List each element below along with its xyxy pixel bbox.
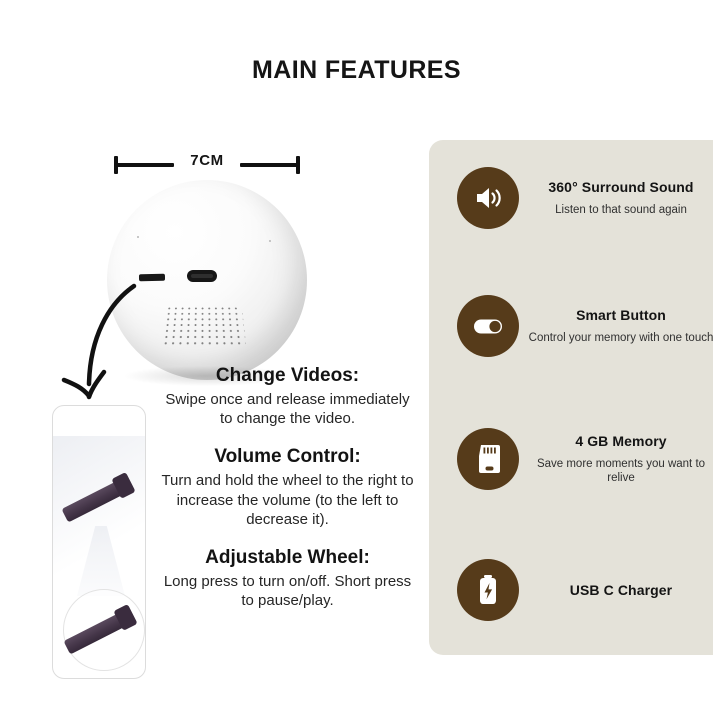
sphere-seam-dot-right	[269, 240, 271, 242]
speaker-grille-icon	[161, 306, 246, 349]
feature-subtitle: Control your memory with one touch	[527, 331, 713, 345]
dimension-indicator: 7CM	[112, 152, 302, 178]
feature-title: 360° Surround Sound	[527, 179, 713, 195]
instructions-list: Change Videos: Swipe once and release im…	[160, 365, 415, 610]
instruction-title: Change Videos:	[160, 365, 415, 387]
instruction-title: Adjustable Wheel:	[160, 547, 415, 569]
instruction-body: Swipe once and release immediately to ch…	[160, 390, 415, 428]
feature-item-usb-charger[interactable]: USB C Charger	[457, 554, 713, 626]
battery-bolt-icon	[457, 559, 519, 621]
instruction-change-videos: Change Videos: Swipe once and release im…	[160, 365, 415, 428]
curved-arrow-icon	[56, 280, 151, 405]
feature-text: USB C Charger	[519, 582, 713, 598]
feature-text: 360° Surround Sound Listen to that sound…	[519, 179, 713, 217]
product-column: 7CM	[0, 110, 425, 710]
feature-item-memory[interactable]: 4 GB Memory Save more moments you want t…	[457, 423, 713, 495]
feature-title: Smart Button	[527, 307, 713, 323]
feature-text: Smart Button Control your memory with on…	[519, 307, 713, 345]
feature-item-surround-sound[interactable]: 360° Surround Sound Listen to that sound…	[457, 162, 713, 234]
instruction-body: Turn and hold the wheel to the right to …	[160, 471, 415, 529]
toggle-switch-icon	[457, 295, 519, 357]
instruction-title: Volume Control:	[160, 446, 415, 468]
page-title: MAIN FEATURES	[0, 56, 713, 85]
sd-card-icon	[457, 428, 519, 490]
feature-title: USB C Charger	[527, 582, 713, 598]
feature-item-smart-button[interactable]: Smart Button Control your memory with on…	[457, 290, 713, 362]
feature-title: 4 GB Memory	[527, 433, 713, 449]
speaker-volume-icon	[457, 167, 519, 229]
wheel-detail-card	[52, 405, 146, 679]
instruction-adjustable-wheel: Adjustable Wheel: Long press to turn on/…	[160, 547, 415, 610]
instruction-volume-control: Volume Control: Turn and hold the wheel …	[160, 446, 415, 529]
features-panel: 360° Surround Sound Listen to that sound…	[429, 140, 713, 655]
dimension-cap-right	[296, 156, 300, 174]
sphere-seam-dot-left	[137, 236, 139, 238]
usb-c-port-icon	[187, 270, 217, 282]
feature-text: 4 GB Memory Save more moments you want t…	[519, 433, 713, 486]
feature-subtitle: Save more moments you want to relive	[527, 457, 713, 486]
dimension-bar-right	[240, 163, 298, 167]
feature-infographic: MAIN FEATURES 7CM	[0, 0, 713, 713]
instruction-body: Long press to turn on/off. Short press t…	[160, 572, 415, 610]
feature-subtitle: Listen to that sound again	[527, 203, 713, 217]
